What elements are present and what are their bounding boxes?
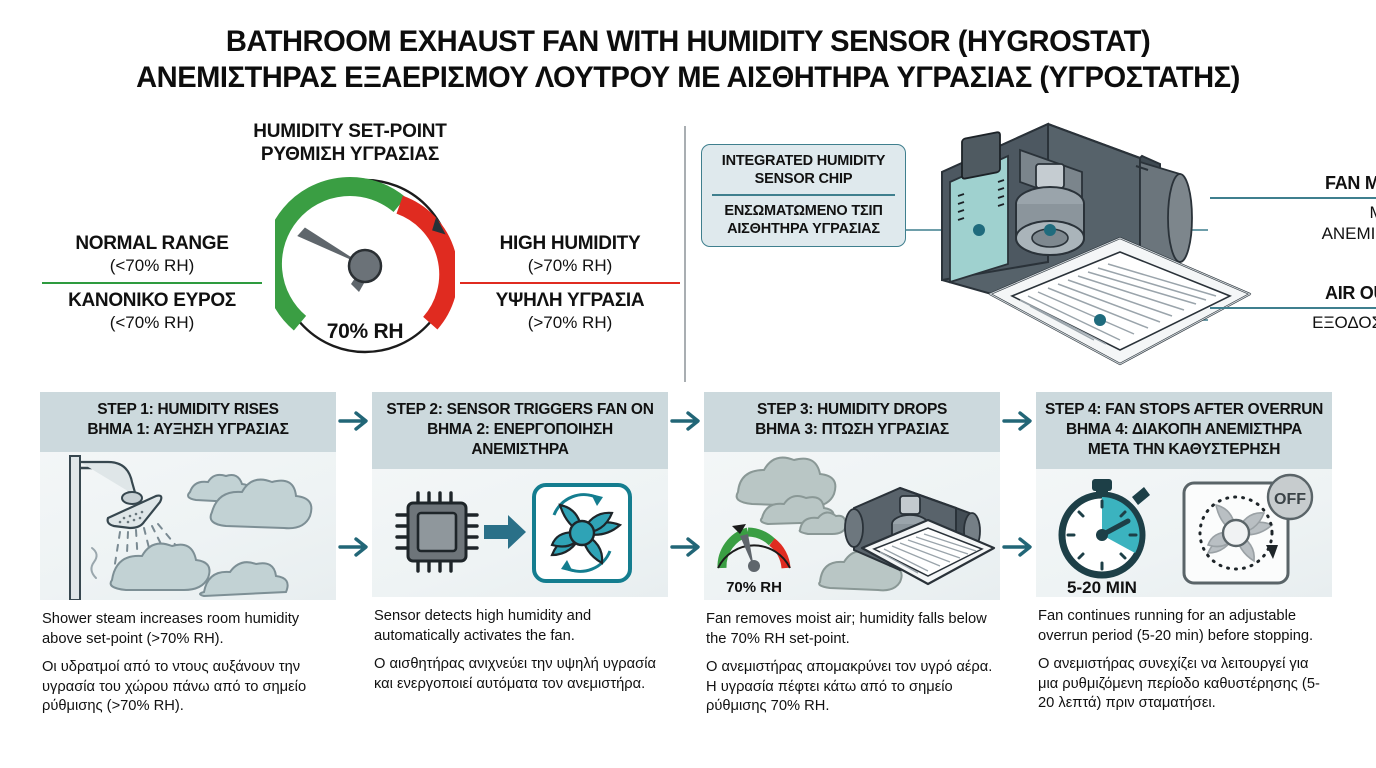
step-arrow-icon (668, 406, 708, 436)
top-section: HUMIDITY SET-POINT ΡΥΘΜΙΣΗ ΥΓΡΑΣΙΑΣ (0, 112, 1376, 384)
step-arrow-icon (1000, 532, 1040, 562)
sensor-chip-callout: INTEGRATED HUMIDITY SENSOR CHIP ΕΝΣΩΜΑΤΩ… (701, 144, 906, 247)
high-humidity-title-el: ΥΨΗΛΗ ΥΓΡΑΣΙΑ (460, 289, 680, 312)
step-1-caption: Shower steam increases room humidity abo… (40, 600, 336, 717)
chip-callout-rule (712, 194, 895, 196)
step-4-caption-en: Fan continues running for an adjustable … (1038, 607, 1330, 646)
step-3-caption: Fan removes moist air; humidity falls be… (704, 600, 1000, 717)
step-arrow-icon (1000, 406, 1040, 436)
air-outlet-label-en: AIR OUTLET (1210, 282, 1376, 304)
high-humidity-title-en: HIGH HUMIDITY (460, 232, 680, 255)
step-card-2: STEP 2: SENSOR TRIGGERS FAN ON ΒΗΜΑ 2: Ε… (372, 392, 668, 694)
step-card-4: STEP 4: FAN STOPS AFTER OVERRUN ΒΗΜΑ 4: … (1036, 392, 1332, 714)
step-4-timer-value: 5-20 MIN (1067, 578, 1137, 597)
air-outlet-callout: AIR OUTLET ΕΞΟΔΟΣ ΑΕΡΑ (1210, 282, 1376, 333)
fan-motor-callout: FAN MOTOR ΜΟΤΕΡ ΑΝΕΜΙΣΤΗΡΑ (1210, 172, 1376, 244)
step-4-header-en: STEP 4: FAN STOPS AFTER OVERRUN (1042, 400, 1326, 420)
step-2-header-en: STEP 2: SENSOR TRIGGERS FAN ON (378, 400, 662, 420)
page-title: BATHROOM EXHAUST FAN WITH HUMIDITY SENSO… (0, 24, 1376, 96)
normal-range-title-el: ΚΑΝΟΝΙΚΟ ΕΥΡΟΣ (42, 289, 262, 312)
gauge-title: HUMIDITY SET-POINT ΡΥΘΜΙΣΗ ΥΓΡΑΣΙΑΣ (180, 120, 520, 166)
title-line-el: ΑΝΕΜΙΣΤΗΡΑΣ ΕΞΑΕΡΙΣΜΟΥ ΛΟΥΤΡΟΥ ΜΕ ΑΙΣΘΗΤ… (21, 60, 1356, 96)
step-arrow-icon (336, 406, 376, 436)
step-1-header-en: STEP 1: HUMIDITY RISES (46, 400, 330, 420)
gauge-normal-range-label: NORMAL RANGE (<70% RH) ΚΑΝΟΝΙΚΟ ΕΥΡΟΣ (<… (42, 232, 262, 334)
gauge-title-en: HUMIDITY SET-POINT (180, 120, 520, 143)
gauge-high-humidity-label: HIGH HUMIDITY (>70% RH) ΥΨΗΛΗ ΥΓΡΑΣΙΑ (>… (460, 232, 680, 334)
step-2-header-el-2: ΑΝΕΜΙΣΤΗΡΑ (378, 440, 662, 460)
chip-callout-el-line2: ΑΙΣΘΗΤΗΡΑ ΥΓΡΑΣΙΑΣ (710, 220, 897, 238)
high-humidity-sub-el: (>70% RH) (460, 312, 680, 334)
step-2-caption-el: Ο αισθητήρας ανιχνεύει την υψηλή υγρασία… (374, 655, 666, 694)
step-card-1: STEP 1: HUMIDITY RISES ΒΗΜΑ 1: ΑΥΞΗΣΗ ΥΓ… (40, 392, 336, 717)
fan-motor-label-el-1: ΜΟΤΕΡ (1210, 202, 1376, 223)
air-outlet-label-el: ΕΞΟΔΟΣ ΑΕΡΑ (1210, 312, 1376, 333)
air-outlet-rule (1210, 307, 1376, 309)
step-2-header: STEP 2: SENSOR TRIGGERS FAN ON ΒΗΜΑ 2: Ε… (372, 392, 668, 469)
process-steps: STEP 1: HUMIDITY RISES ΒΗΜΑ 1: ΑΥΞΗΣΗ ΥΓ… (0, 392, 1376, 768)
step-4-off-badge: OFF (1274, 491, 1306, 508)
step-4-header-el: ΒΗΜΑ 4: ΔΙΑΚΟΠΗ ΑΝΕΜΙΣΤΗΡΑ (1042, 420, 1326, 440)
humidity-setpoint-panel: HUMIDITY SET-POINT ΡΥΘΜΙΣΗ ΥΓΡΑΣΙΑΣ (20, 112, 680, 384)
step-3-header: STEP 3: HUMIDITY DROPS ΒΗΜΑ 3: ΠΤΩΣΗ ΥΓΡ… (704, 392, 1000, 452)
step-2-caption: Sensor detects high humidity and automat… (372, 597, 668, 694)
high-humidity-sub-en: (>70% RH) (460, 255, 680, 277)
step-3-illustration: 70% RH (704, 452, 1000, 600)
step-4-caption-el: Ο ανεμιστήρας συνεχίζει να λειτουργεί γι… (1038, 655, 1330, 714)
step-4-caption: Fan continues running for an adjustable … (1036, 597, 1332, 714)
title-line-en: BATHROOM EXHAUST FAN WITH HUMIDITY SENSO… (21, 24, 1356, 60)
normal-range-sub-en: (<70% RH) (42, 255, 262, 277)
step-card-3: STEP 3: HUMIDITY DROPS ΒΗΜΑ 3: ΠΤΩΣΗ ΥΓΡ… (704, 392, 1000, 717)
fan-motor-label-el-2: ΑΝΕΜΙΣΤΗΡΑ (1210, 223, 1376, 244)
gauge-value-label: 70% RH (275, 320, 455, 344)
step-arrow-icon (336, 532, 376, 562)
chip-callout-en-line2: SENSOR CHIP (710, 170, 897, 188)
step-arrow-icon (668, 532, 708, 562)
step-3-gauge-value: 70% RH (726, 579, 782, 596)
step-4-header-el-2: ΜΕΤΑ ΤΗΝ ΚΑΘΥΣΤΕΡΗΣΗ (1042, 440, 1326, 460)
chip-callout-el-line1: ΕΝΣΩΜΑΤΩΜΕΝΟ ΤΣΙΠ (710, 202, 897, 220)
step-2-caption-en: Sensor detects high humidity and automat… (374, 607, 666, 646)
normal-range-rule (42, 282, 262, 284)
step-2-header-el: ΒΗΜΑ 2: ΕΝΕΡΓΟΠΟΙΗΣΗ (378, 420, 662, 440)
chip-callout-en-line1: INTEGRATED HUMIDITY (710, 152, 897, 170)
step-1-header: STEP 1: HUMIDITY RISES ΒΗΜΑ 1: ΑΥΞΗΣΗ ΥΓ… (40, 392, 336, 452)
step-2-illustration (372, 469, 668, 597)
step-3-header-en: STEP 3: HUMIDITY DROPS (710, 400, 994, 420)
step-1-caption-el: Οι υδρατμοί από το ντους αυξάνουν την υγ… (42, 658, 334, 717)
step-3-caption-en: Fan removes moist air; humidity falls be… (706, 610, 998, 649)
fan-unit-diagram-panel: INTEGRATED HUMIDITY SENSOR CHIP ΕΝΣΩΜΑΤΩ… (690, 112, 1376, 384)
normal-range-sub-el: (<70% RH) (42, 312, 262, 334)
step-4-illustration: 5-20 MIN OFF (1036, 469, 1332, 597)
normal-range-title-en: NORMAL RANGE (42, 232, 262, 255)
step-1-caption-en: Shower steam increases room humidity abo… (42, 610, 334, 649)
step-3-caption-el: Ο ανεμιστήρας απομακρύνει τον υγρό αέρα.… (706, 658, 998, 717)
fan-motor-rule (1210, 197, 1376, 199)
fan-motor-label-en: FAN MOTOR (1210, 172, 1376, 194)
step-1-header-el: ΒΗΜΑ 1: ΑΥΞΗΣΗ ΥΓΡΑΣΙΑΣ (46, 420, 330, 440)
high-humidity-rule (460, 282, 680, 284)
step-4-header: STEP 4: FAN STOPS AFTER OVERRUN ΒΗΜΑ 4: … (1036, 392, 1332, 469)
section-divider (684, 126, 686, 382)
gauge-title-el: ΡΥΘΜΙΣΗ ΥΓΡΑΣΙΑΣ (180, 143, 520, 166)
step-3-header-el: ΒΗΜΑ 3: ΠΤΩΣΗ ΥΓΡΑΣΙΑΣ (710, 420, 994, 440)
step-1-illustration (40, 452, 336, 600)
